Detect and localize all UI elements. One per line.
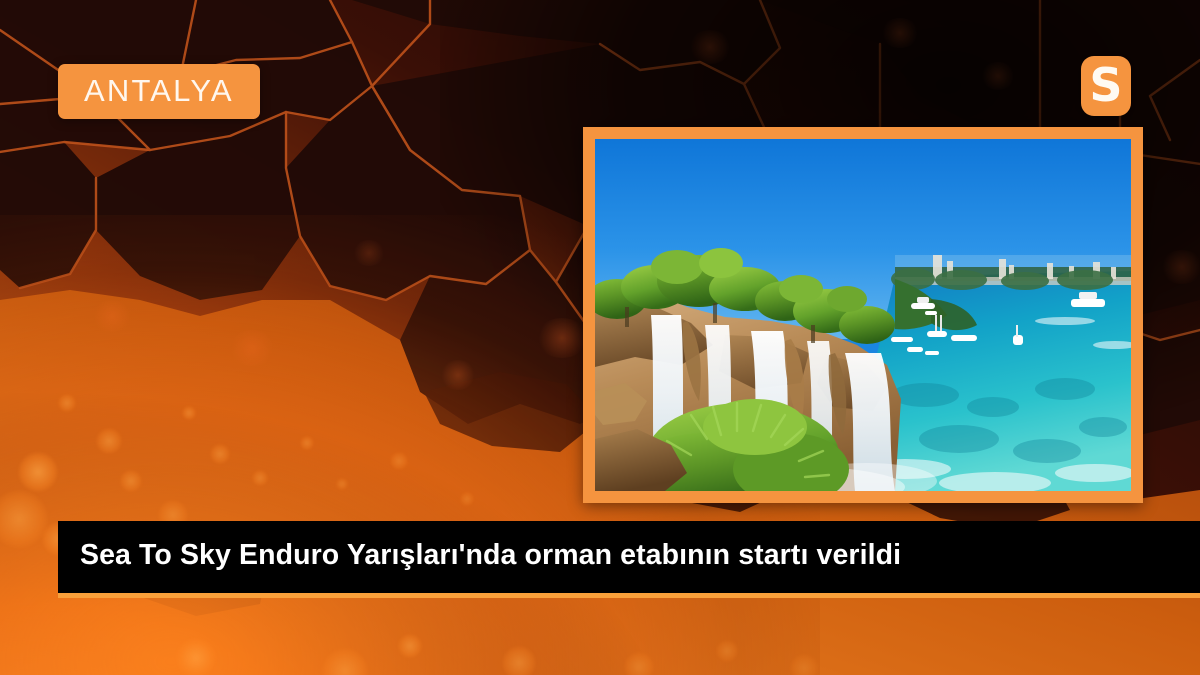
page-title: Sea To Sky Enduro Yarışları'nda orman et… <box>80 537 1180 573</box>
brand-logo[interactable]: S <box>1081 56 1131 116</box>
news-card: ANTALYA S <box>0 0 1200 675</box>
headline-bar: Sea To Sky Enduro Yarışları'nda orman et… <box>58 521 1200 598</box>
photo-image <box>595 139 1131 491</box>
city-badge: ANTALYA <box>58 64 260 119</box>
photo-card[interactable] <box>583 127 1143 503</box>
city-badge-label: ANTALYA <box>84 73 234 108</box>
photo-illustration <box>595 139 1131 491</box>
brand-logo-letter: S <box>1089 62 1122 108</box>
